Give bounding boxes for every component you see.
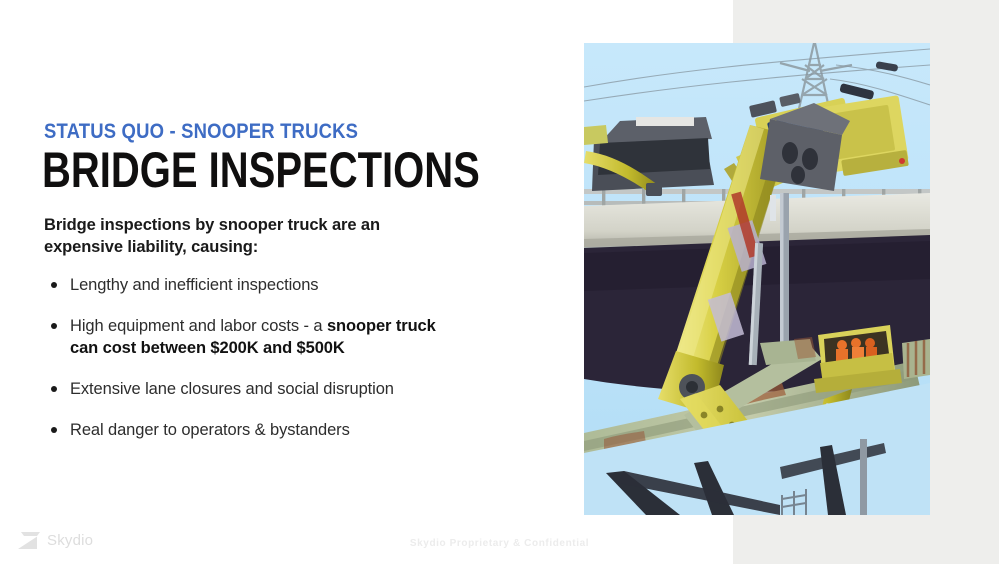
worker — [851, 338, 861, 348]
lead-paragraph: Bridge inspections by snooper truck are … — [44, 214, 444, 258]
list-item-text-lead: High equipment and labor costs - a — [70, 317, 327, 335]
worker — [837, 340, 847, 350]
list-item-text: Real danger to operators & bystanders — [70, 421, 350, 439]
list-item: Extensive lane closures and social disru… — [44, 378, 464, 400]
bullet-list: Lengthy and inefficient inspections High… — [44, 274, 464, 460]
warning-light — [899, 158, 905, 164]
page-title: BRIDGE INSPECTIONS — [42, 144, 480, 196]
list-item: Real danger to operators & bystanders — [44, 419, 464, 441]
list-item-text: Extensive lane closures and social disru… — [70, 380, 394, 398]
confidentiality-notice: Skydio Proprietary & Confidential — [0, 538, 999, 549]
pier-column — [860, 439, 867, 515]
eyebrow-label: STATUS QUO - SNOOPER TRUCKS — [44, 120, 358, 144]
list-item-text: Lengthy and inefficient inspections — [70, 276, 318, 294]
worker-basket — [814, 325, 902, 393]
list-item: Lengthy and inefficient inspections — [44, 274, 464, 296]
photo-illustration — [584, 43, 930, 515]
deck-support-bracket — [902, 339, 930, 379]
list-item: High equipment and labor costs - a snoop… — [44, 315, 464, 359]
bridge-inspection-photo — [584, 43, 930, 515]
truck-deck-body — [584, 117, 714, 196]
slide-canvas: STATUS QUO - SNOOPER TRUCKS BRIDGE INSPE… — [0, 0, 999, 564]
worker — [865, 338, 875, 348]
